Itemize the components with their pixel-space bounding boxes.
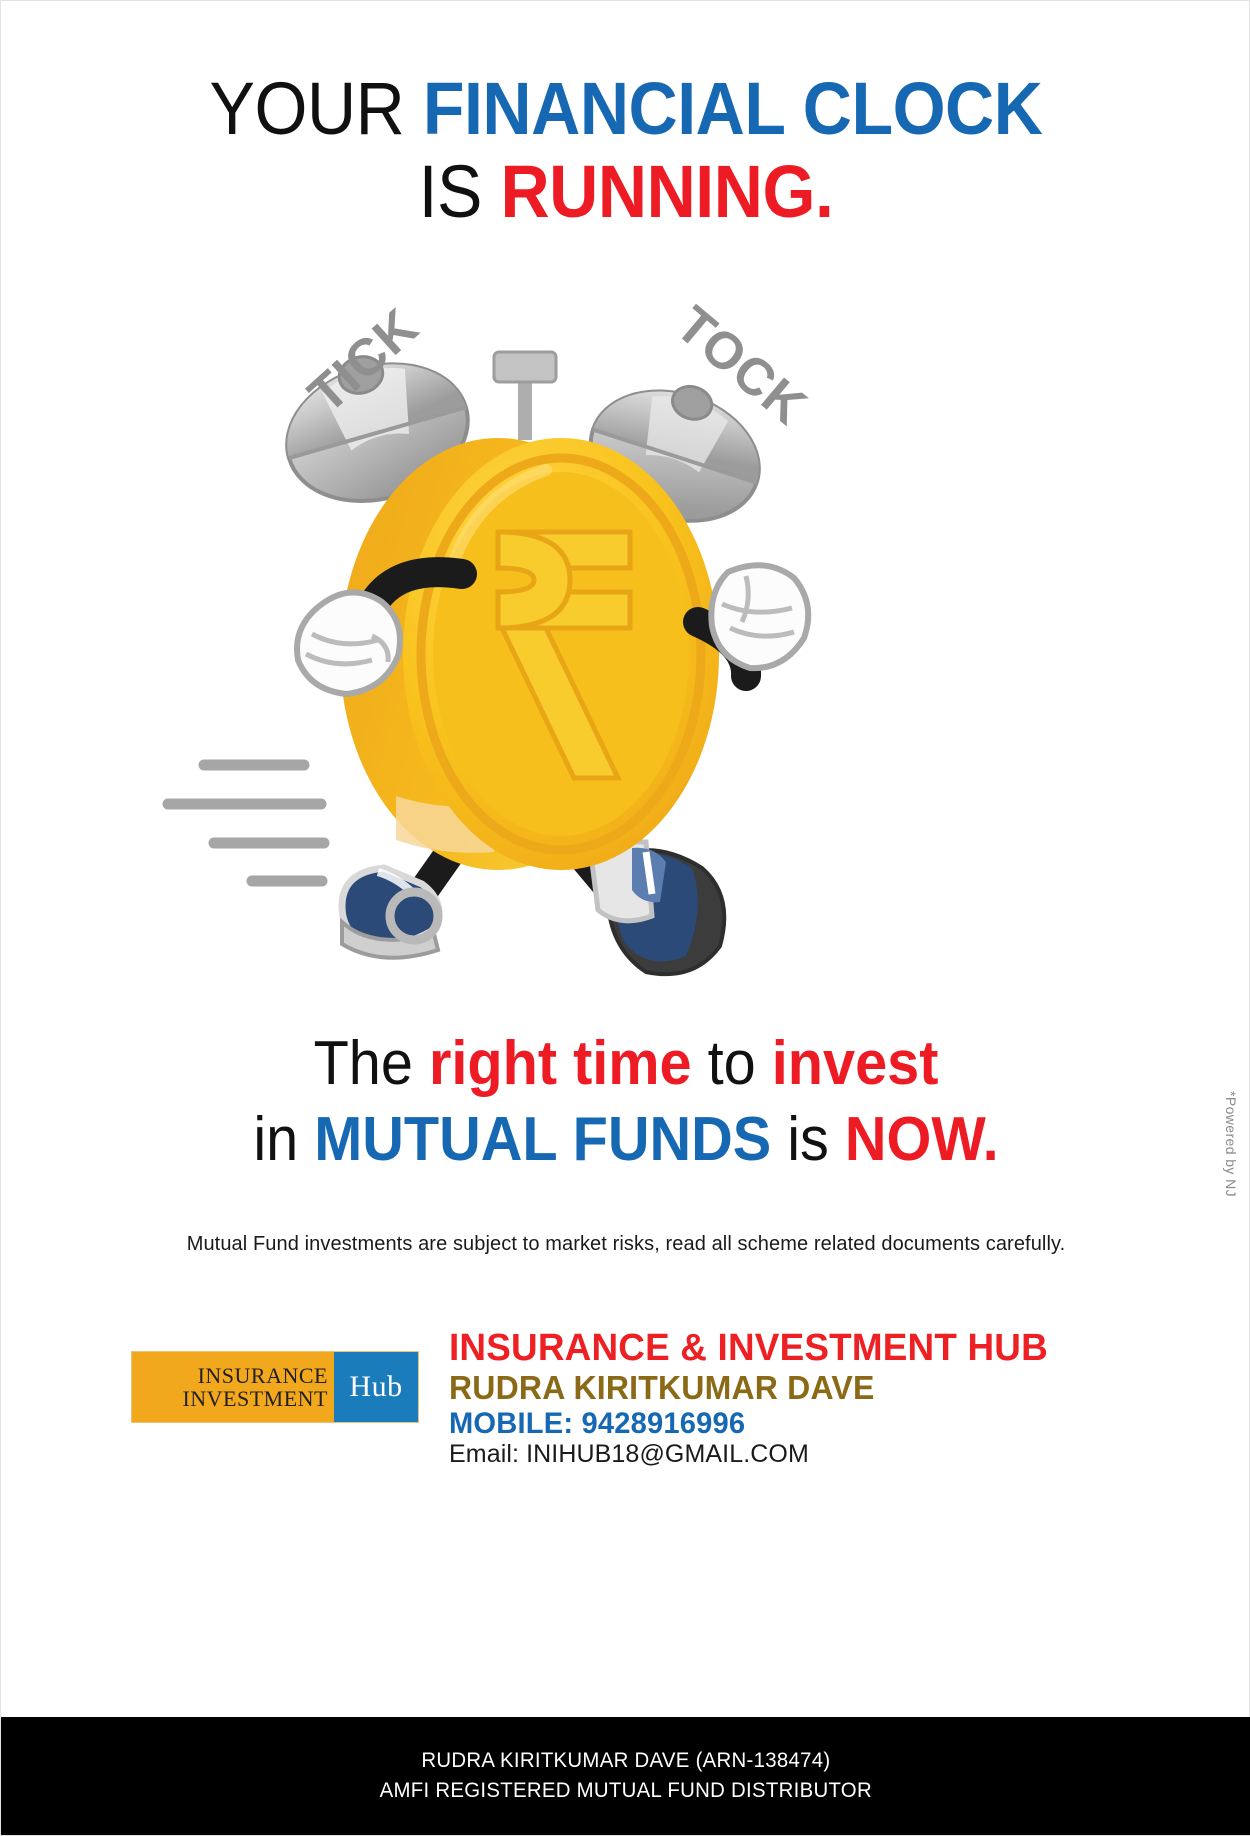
tagline: The right time to invest in MUTUAL FUNDS… [1, 1033, 1250, 1171]
logo-word-hub: Hub [349, 1370, 402, 1404]
glove-right [711, 565, 808, 668]
headline-word-your: YOUR [210, 67, 423, 150]
footer-amfi-line: AMFI REGISTERED MUTUAL FUND DISTRIBUTOR [380, 1779, 872, 1803]
tagline-word-to: to [692, 1029, 772, 1098]
shoe-left [342, 868, 439, 958]
contact-email[interactable]: Email: INIHUB18@GMAIL.COM [449, 1440, 1066, 1468]
disclaimer-text: Mutual Fund investments are subject to m… [1, 1233, 1250, 1256]
tagline-word-now: NOW. [845, 1105, 999, 1174]
poster-canvas: YOUR FINANCIAL CLOCK IS RUNNING. [0, 0, 1250, 1836]
logo-line-investment: INVESTMENT [182, 1388, 328, 1410]
headline-line-2: IS RUNNING. [51, 156, 1201, 229]
contact-person-name: RUDRA KIRITKUMAR DAVE [449, 1370, 1048, 1407]
logo-left-panel: INSURANCE INVESTMENT [132, 1352, 334, 1422]
coin-character-illustration: TICK TOCK [146, 256, 906, 1016]
company-logo: INSURANCE INVESTMENT Hub [131, 1351, 419, 1423]
tagline-word-the: The [314, 1029, 429, 1098]
glove-left [297, 592, 400, 694]
logo-right-panel: Hub [334, 1352, 418, 1422]
headline-word-is: IS [419, 150, 501, 233]
clock-winder [494, 352, 556, 440]
contact-mobile[interactable]: MOBILE: 9428916996 [449, 1407, 1048, 1441]
shoe-right [592, 842, 724, 974]
speed-lines [168, 765, 324, 881]
footer-arn-line: RUDRA KIRITKUMAR DAVE (ARN-138474) [421, 1749, 830, 1773]
tagline-word-invest: invest [772, 1029, 939, 1098]
tagline-word-mutual-funds: MUTUAL FUNDS [314, 1105, 771, 1174]
brand-block: INSURANCE INVESTMENT Hub INSURANCE & INV… [131, 1327, 1131, 1467]
headline-word-running: RUNNING. [500, 150, 833, 233]
footer-bar: RUDRA KIRITKUMAR DAVE (ARN-138474) AMFI … [1, 1717, 1250, 1835]
tagline-word-right-time: right time [429, 1029, 692, 1098]
logo-line-insurance: INSURANCE [198, 1365, 328, 1387]
powered-by-credit: *Powered by NJ [1223, 1091, 1239, 1197]
contact-company-name: INSURANCE & INVESTMENT HUB [449, 1327, 1048, 1370]
headline-word-financial-clock: FINANCIAL CLOCK [423, 67, 1043, 150]
tagline-line-2: in MUTUAL FUNDS is NOW. [45, 1109, 1208, 1171]
contact-details: INSURANCE & INVESTMENT HUB RUDRA KIRITKU… [449, 1327, 1066, 1468]
tagline-word-in: in [253, 1105, 314, 1174]
headline-line-1: YOUR FINANCIAL CLOCK [51, 73, 1201, 146]
tagline-word-is: is [771, 1105, 845, 1174]
tagline-line-1: The right time to invest [45, 1033, 1208, 1095]
headline: YOUR FINANCIAL CLOCK IS RUNNING. [1, 73, 1250, 228]
